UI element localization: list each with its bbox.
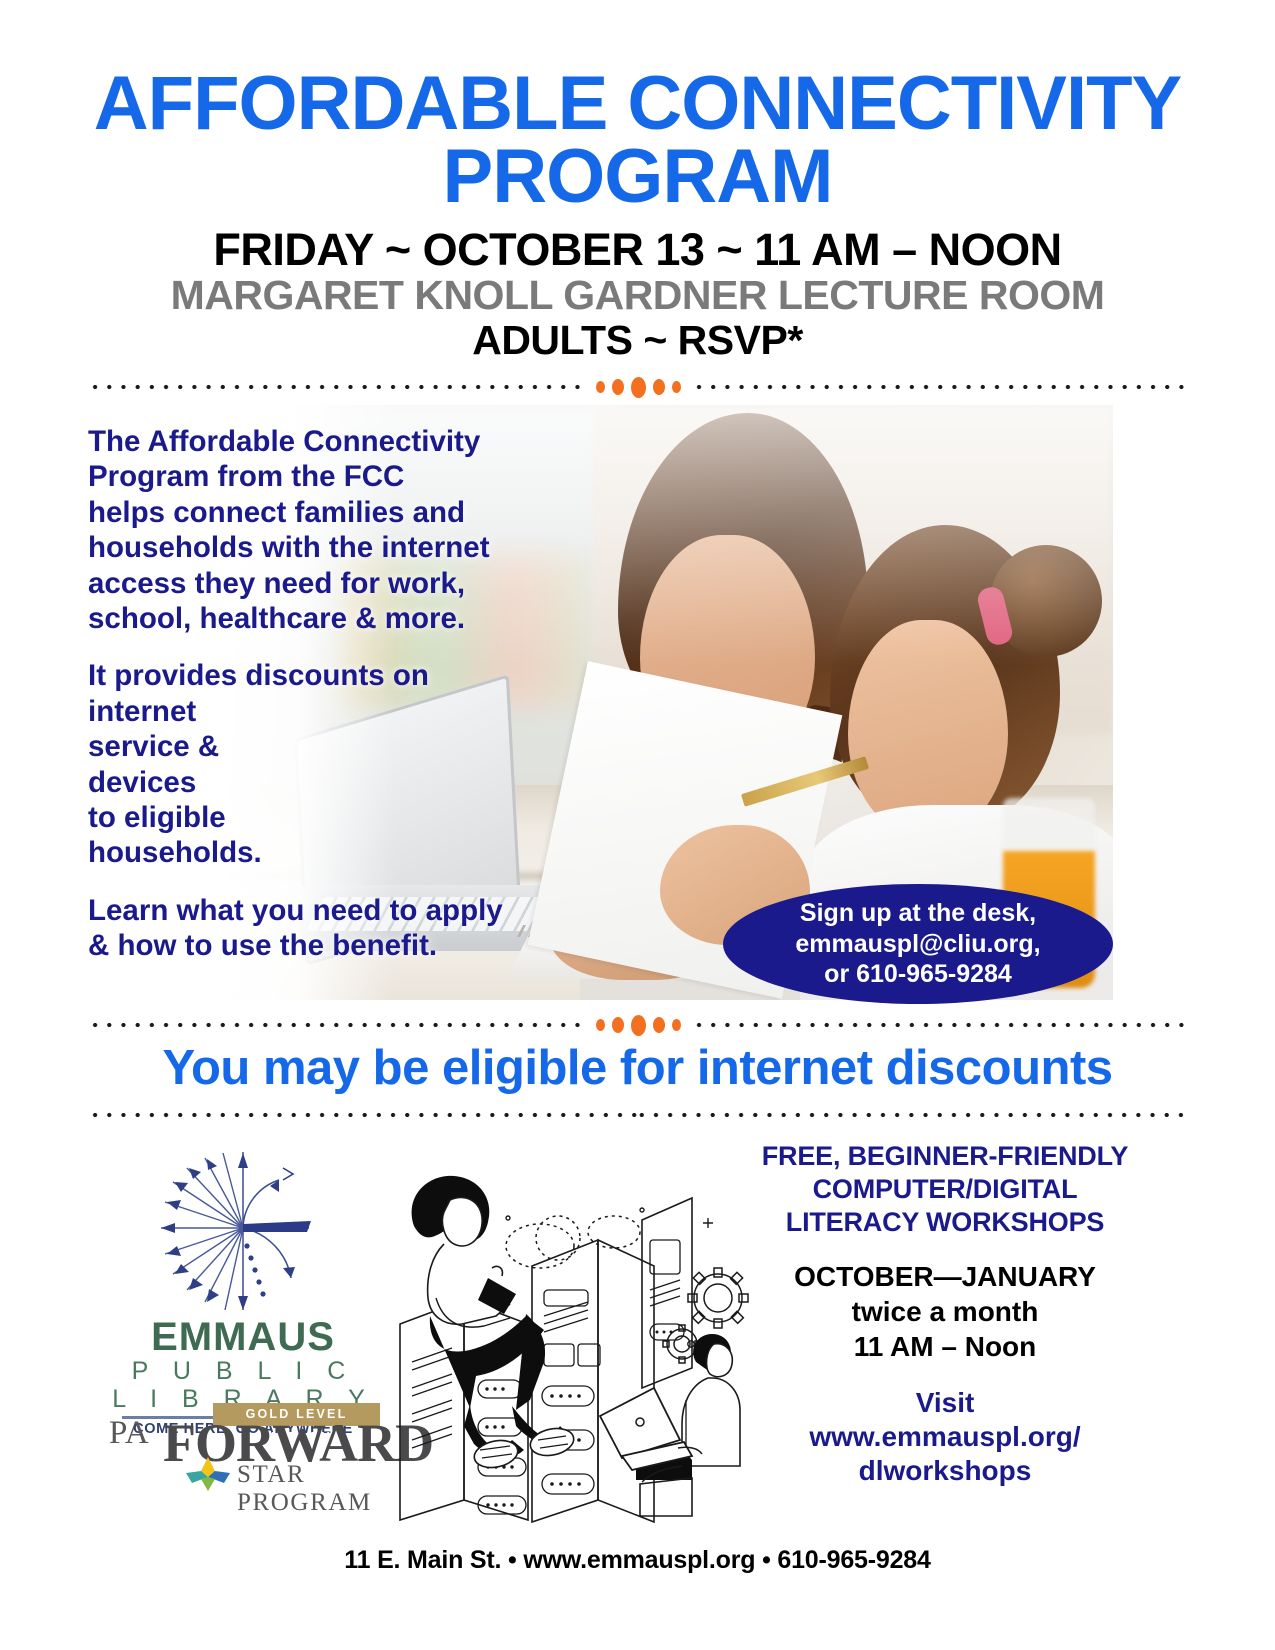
dot-line-full xyxy=(88,1108,638,1122)
program-description: The Affordable Connectivity Program from… xyxy=(88,424,618,963)
event-datetime: FRIDAY ~ OCTOBER 13 ~ 11 AM – NOON xyxy=(0,226,1275,273)
divider-center-dots xyxy=(585,1015,692,1036)
dot-line-right xyxy=(692,380,1189,394)
signup-line-1: Sign up at the desk, xyxy=(800,898,1036,929)
library-compass-burst-icon xyxy=(143,1150,343,1315)
orange-dot-icon xyxy=(672,381,681,393)
orange-dot-icon xyxy=(596,381,605,393)
orange-dot-icon xyxy=(631,1015,646,1036)
illustration-people-with-servers xyxy=(392,1148,752,1523)
bottom-section: EMMAUS P U B L I C L I B R A R Y COME HE… xyxy=(0,1130,1275,1530)
star-program-text: STAR PROGRAM xyxy=(237,1461,380,1517)
star-icon xyxy=(182,1457,234,1491)
orange-dot-icon xyxy=(612,379,624,395)
flyer-page: AFFORDABLE CONNECTIVITY PROGRAM FRIDAY ~… xyxy=(0,0,1275,1650)
orange-dot-icon xyxy=(653,1017,665,1033)
event-location: MARGARET KNOLL GARDNER LECTURE ROOM xyxy=(0,273,1275,318)
workshops-schedule: OCTOBER—JANUARY twice a month 11 AM – No… xyxy=(755,1259,1135,1364)
header-block: AFFORDABLE CONNECTIVITY PROGRAM FRIDAY ~… xyxy=(0,0,1275,363)
divider-bottom xyxy=(88,1106,1188,1124)
pa-forward-star-program-logo: GOLD LEVEL LIBRARY PA FORWARD STAR PROGR… xyxy=(105,1395,380,1490)
page-title: AFFORDABLE CONNECTIVITY PROGRAM xyxy=(0,68,1275,214)
library-name: EMMAUS xyxy=(112,1317,374,1357)
dot-line-left xyxy=(88,380,585,394)
divider-top xyxy=(88,378,1188,396)
dot-line-right xyxy=(692,1018,1189,1032)
footer-contact: 11 E. Main St. • www.emmauspl.org • 610-… xyxy=(0,1546,1275,1575)
orange-dot-icon xyxy=(653,379,665,395)
description-paragraph-2: It provides discounts on internet servic… xyxy=(88,658,618,870)
workshops-heading: FREE, BEGINNER-FRIENDLY COMPUTER/DIGITAL… xyxy=(755,1140,1135,1239)
orange-dot-icon xyxy=(612,1017,624,1033)
emmaus-public-library-logo: EMMAUS P U B L I C L I B R A R Y COME HE… xyxy=(112,1150,374,1437)
orange-dot-icon xyxy=(596,1019,605,1031)
page-title-line-1: AFFORDABLE CONNECTIVITY xyxy=(0,68,1275,141)
pa-forward-pa-text: PA xyxy=(109,1415,149,1452)
divider-middle xyxy=(88,1016,1188,1034)
page-title-line-2: PROGRAM xyxy=(0,141,1275,214)
signup-email: emmauspl@cliu.org, xyxy=(795,929,1040,960)
eligibility-banner: You may be eligible for internet discoun… xyxy=(0,1040,1275,1096)
signup-phone: or 610-965-9284 xyxy=(824,959,1012,990)
workshops-visit-link[interactable]: Visit www.emmauspl.org/ dlworkshops xyxy=(755,1386,1135,1488)
dot-line-full-right xyxy=(638,1108,1188,1122)
workshops-info: FREE, BEGINNER-FRIENDLY COMPUTER/DIGITAL… xyxy=(755,1140,1135,1488)
orange-dot-icon xyxy=(672,1019,681,1031)
event-audience: ADULTS ~ RSVP* xyxy=(0,318,1275,363)
description-paragraph-1: The Affordable Connectivity Program from… xyxy=(88,424,618,636)
orange-dot-icon xyxy=(631,377,646,398)
dot-line-left xyxy=(88,1018,585,1032)
description-paragraph-3: Learn what you need to apply & how to us… xyxy=(88,893,618,964)
signup-callout[interactable]: Sign up at the desk, emmauspl@cliu.org, … xyxy=(723,884,1113,1004)
library-word-public: P U B L I C xyxy=(112,1357,374,1385)
divider-center-dots xyxy=(585,377,692,398)
